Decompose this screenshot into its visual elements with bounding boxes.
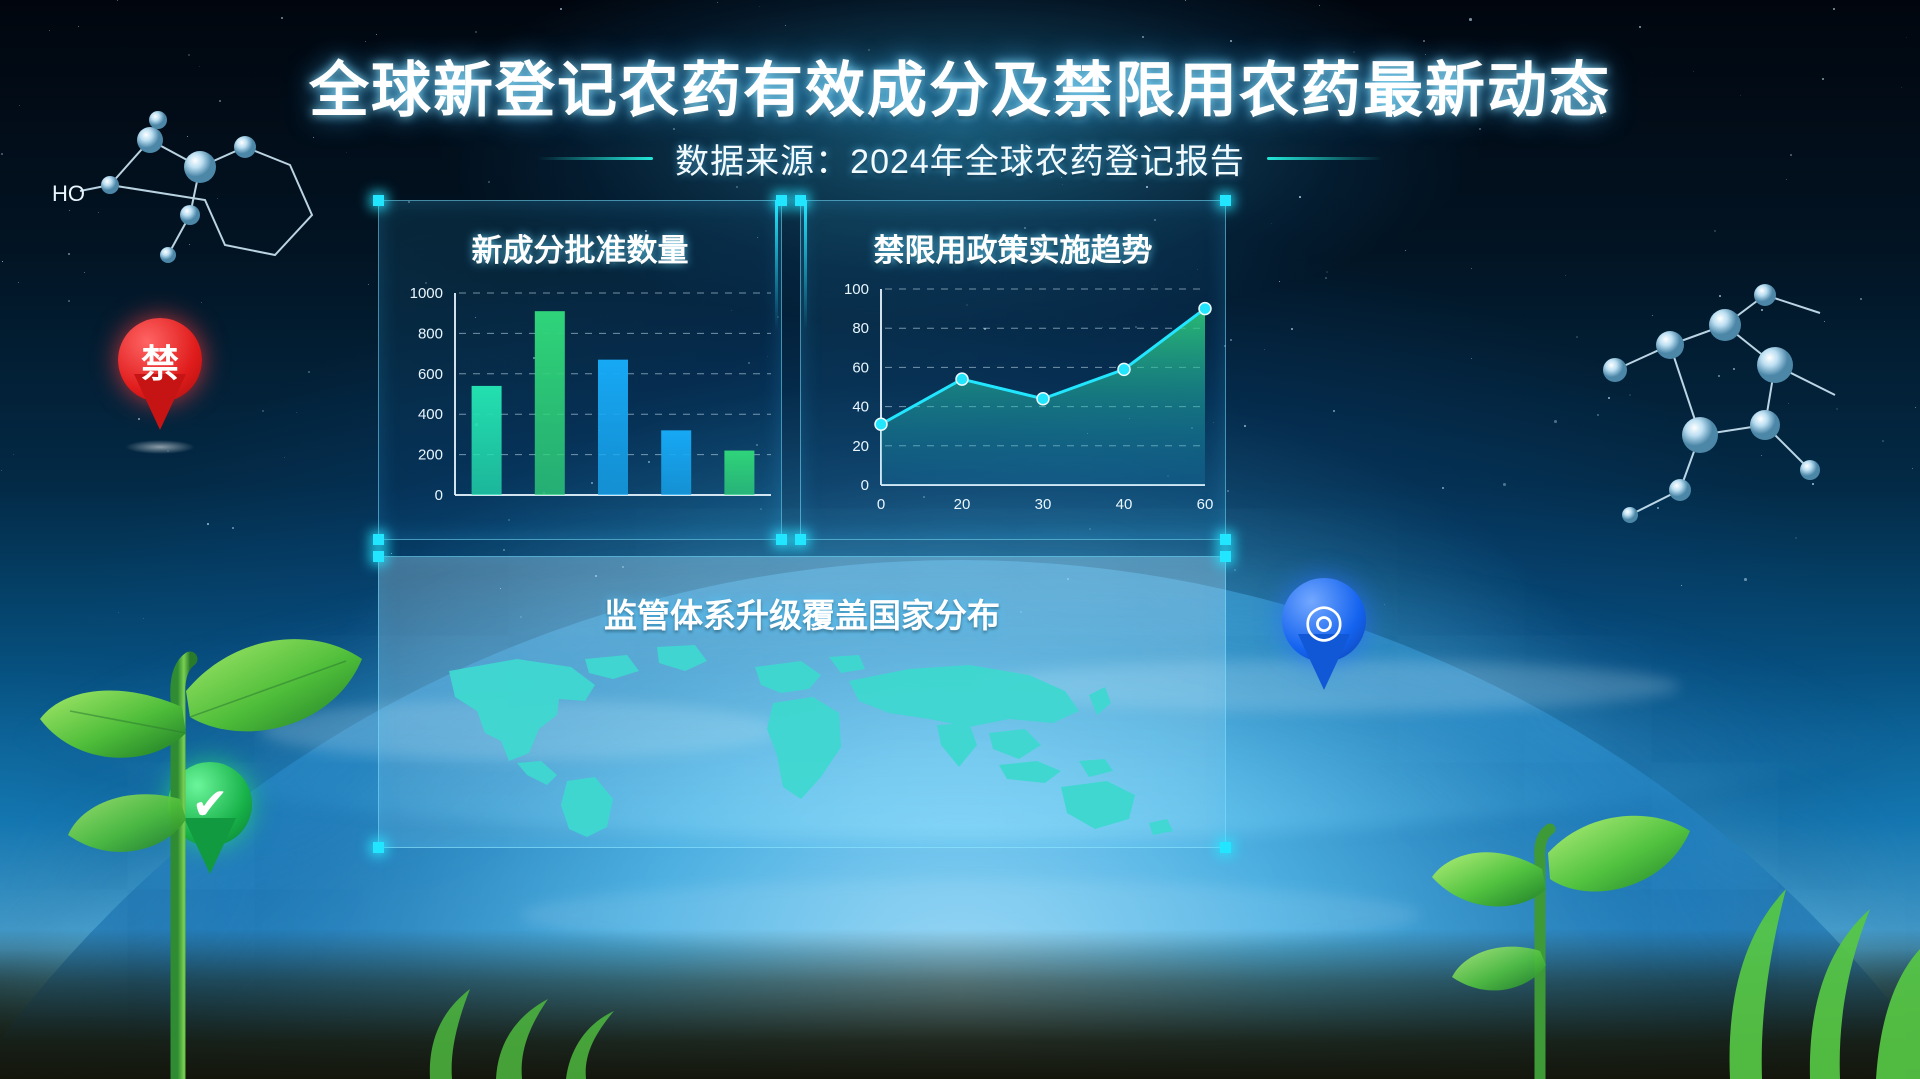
star	[1291, 328, 1293, 330]
star	[308, 371, 310, 373]
star	[1271, 223, 1272, 224]
bar-y-tick-label: 400	[418, 406, 443, 423]
target-pin-label: ◎	[1282, 578, 1366, 662]
line-y-tick-label: 40	[852, 399, 869, 416]
star	[296, 412, 297, 413]
target-pin-marker[interactable]: ◎	[1282, 578, 1366, 690]
world-map-panel[interactable]: 监管体系升级覆盖国家分布	[378, 556, 1226, 848]
page-title: 全球新登记农药有效成分及禁限用农药最新动态	[0, 42, 1920, 129]
bar-chart-title: 新成分批准数量	[379, 225, 781, 270]
line-chart-title: 禁限用政策实施趋势	[801, 225, 1225, 270]
star	[1744, 578, 1747, 581]
bar-y-tick-label: 800	[418, 325, 443, 342]
molecule-right-icon	[1560, 275, 1920, 555]
subtitle-rule-right	[1267, 157, 1383, 160]
line-x-tick-label: 20	[954, 496, 971, 513]
star	[1142, 36, 1144, 38]
panel-corner-br	[776, 534, 787, 545]
panel-corner-bl	[795, 534, 806, 545]
star	[284, 457, 285, 458]
panel-corner-tr	[1220, 195, 1231, 206]
star	[475, 31, 477, 33]
star	[1469, 18, 1472, 21]
star	[78, 26, 79, 27]
line-y-tick-label: 80	[852, 320, 869, 337]
star	[1299, 196, 1301, 198]
star	[1062, 184, 1063, 185]
line-y-tick-label: 100	[844, 281, 869, 298]
star	[1405, 250, 1406, 251]
line-chart-panel[interactable]: 禁限用政策实施趋势 020406080100020304060	[800, 200, 1226, 540]
star	[376, 34, 377, 35]
svg-text:HO: HO	[52, 181, 85, 206]
data-point-marker[interactable]	[875, 418, 887, 430]
panel-corner-tr	[1220, 551, 1231, 562]
bar-y-tick-label: 600	[418, 366, 443, 383]
line-chart-svg: 020406080100020304060	[801, 273, 1225, 531]
star	[1185, 0, 1186, 1]
star	[201, 302, 202, 303]
ban-pin-shadow	[125, 440, 195, 454]
sprout-right-icon	[1360, 719, 1720, 1079]
star	[1230, 339, 1232, 341]
star	[1, 470, 2, 471]
star	[785, 25, 786, 26]
star	[560, 8, 562, 10]
bar-item[interactable]	[472, 386, 502, 495]
panel-corner-br	[1220, 842, 1231, 853]
star	[1227, 490, 1229, 492]
line-x-tick-label: 40	[1116, 496, 1133, 513]
line-x-tick-label: 0	[877, 496, 885, 513]
bar-item[interactable]	[598, 360, 628, 495]
star	[1319, 5, 1320, 6]
bar-y-tick-label: 0	[435, 487, 443, 504]
star	[281, 17, 283, 19]
bar-y-tick-label: 1000	[410, 285, 443, 302]
star	[1326, 271, 1328, 273]
bar-item[interactable]	[661, 430, 691, 495]
star	[1146, 186, 1148, 188]
ban-pin-label: 禁	[118, 318, 202, 402]
star	[49, 30, 50, 31]
subtitle-row: 数据来源：2024年全球农药登记报告	[0, 134, 1920, 183]
line-y-tick-label: 60	[852, 359, 869, 376]
star	[736, 186, 738, 188]
data-point-marker[interactable]	[956, 373, 968, 385]
line-y-tick-label: 20	[852, 438, 869, 455]
panel-corner-tl	[373, 195, 384, 206]
star	[117, 0, 118, 1]
star	[1639, 26, 1641, 28]
star	[13, 454, 14, 455]
bar-chart-svg: 02004006008001000	[379, 277, 781, 527]
star	[1714, 230, 1716, 232]
star	[368, 284, 369, 285]
star	[1264, 349, 1265, 350]
subtitle-text: 数据来源：2024年全球农药登记报告	[675, 134, 1245, 183]
grass-far-right-icon	[1690, 749, 1920, 1079]
sprout-left-icon	[10, 519, 410, 1079]
line-x-tick-label: 30	[1035, 496, 1052, 513]
star	[1833, 8, 1835, 10]
star	[759, 6, 760, 7]
star	[1442, 487, 1444, 489]
bar-y-tick-label: 200	[418, 447, 443, 464]
subtitle-rule-left	[537, 157, 653, 160]
panel-corner-br	[1220, 534, 1231, 545]
star	[1906, 37, 1907, 38]
star	[68, 300, 70, 302]
star	[2, 261, 3, 262]
bar-chart-panel[interactable]: 新成分批准数量 02004006008001000	[378, 200, 782, 540]
star	[1554, 420, 1557, 423]
panel-connector-left	[775, 200, 778, 330]
star	[503, 549, 505, 551]
star	[18, 282, 19, 283]
star	[1325, 277, 1327, 279]
line-y-tick-label: 0	[861, 477, 869, 494]
infographic-canvas: HO 全球新登记农	[0, 0, 1920, 1079]
world-map-icon	[389, 641, 1215, 837]
star	[262, 410, 264, 412]
star	[1279, 281, 1280, 282]
panel-connector-right	[804, 200, 807, 330]
ban-pin-marker[interactable]: 禁	[118, 318, 202, 430]
star	[717, 2, 718, 3]
map-panel-title: 监管体系升级覆盖国家分布	[379, 589, 1225, 637]
star	[1244, 425, 1246, 427]
grass-center-icon	[400, 919, 640, 1079]
star	[1333, 410, 1335, 412]
star	[1471, 268, 1472, 269]
bar-item[interactable]	[535, 311, 565, 495]
data-point-marker[interactable]	[1118, 363, 1130, 375]
bar-item[interactable]	[724, 451, 754, 495]
star	[1503, 483, 1506, 486]
star	[1471, 358, 1472, 359]
line-x-tick-label: 60	[1197, 496, 1214, 513]
data-point-marker[interactable]	[1199, 303, 1211, 315]
data-point-marker[interactable]	[1037, 393, 1049, 405]
